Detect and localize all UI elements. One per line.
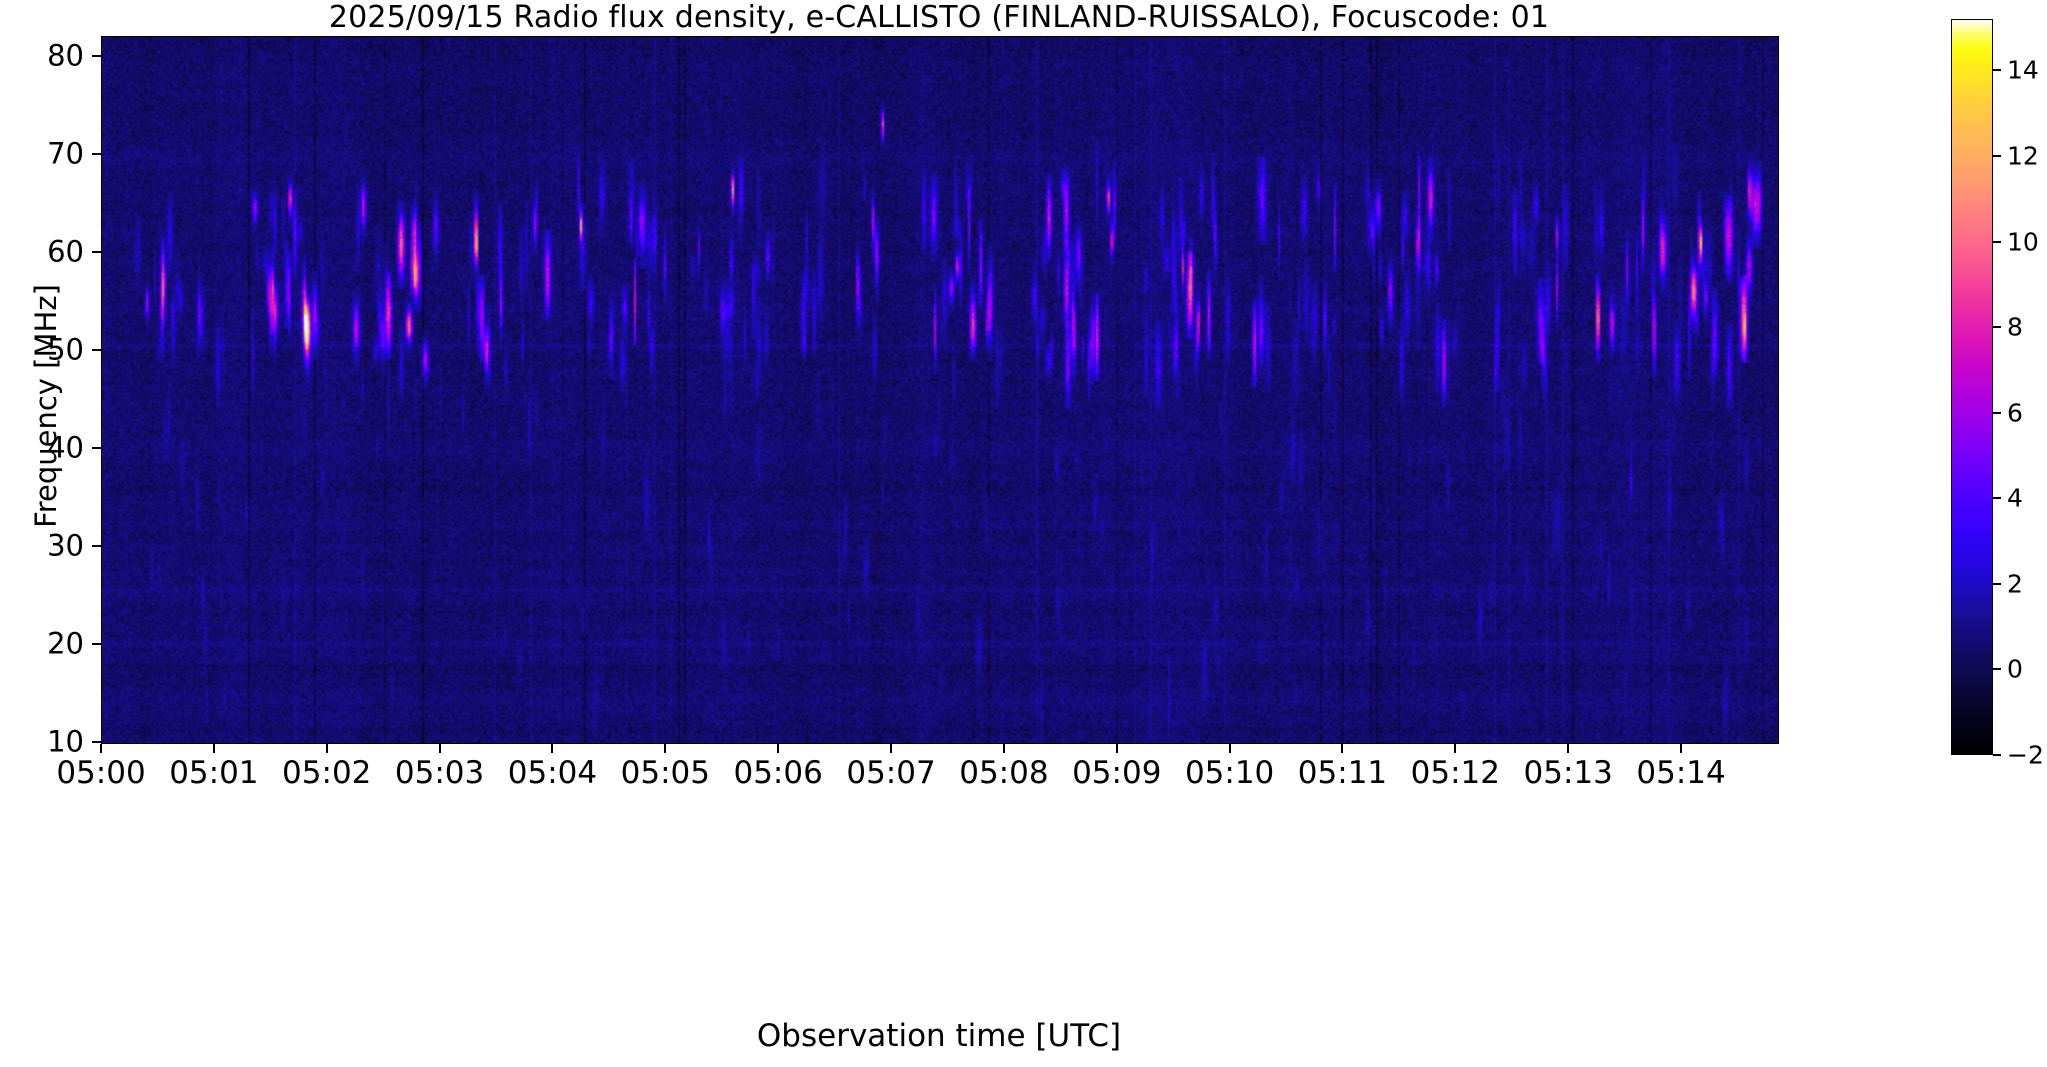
x-tick-label: 05:10 — [1185, 758, 1274, 789]
x-tick-mark — [1003, 744, 1005, 753]
colorbar-tick-mark — [1993, 497, 2001, 499]
x-tick-mark — [1341, 744, 1343, 753]
figure-canvas: 2025/09/15 Radio flux density, e-CALLIST… — [0, 0, 2047, 1067]
colorbar-tick-mark — [1993, 668, 2001, 670]
x-tick-mark — [1454, 744, 1456, 753]
colorbar-tick-label: 6 — [2007, 400, 2023, 425]
colorbar-tick-mark — [1993, 69, 2001, 71]
x-tick-mark — [1116, 744, 1118, 753]
colorbar-tick-label: 12 — [2007, 143, 2039, 168]
colorbar-tick-mark — [1993, 412, 2001, 414]
y-tick-label: 50 — [0, 335, 84, 364]
colorbar-tick-label: 10 — [2007, 229, 2039, 254]
page-title: 2025/09/15 Radio flux density, e-CALLIST… — [101, 2, 1777, 34]
colorbar-tick-mark — [1993, 754, 2001, 756]
x-tick-label: 05:02 — [282, 758, 371, 789]
x-tick-mark — [1567, 744, 1569, 753]
spectrogram-axes[interactable] — [101, 36, 1779, 744]
x-tick-label: 05:07 — [846, 758, 935, 789]
x-axis-label: Observation time [UTC] — [101, 1018, 1777, 1054]
x-tick-label: 05:05 — [621, 758, 710, 789]
y-axis-label: Frequency [MHz] — [29, 96, 63, 716]
y-tick-mark — [92, 153, 101, 155]
colorbar-tick-mark — [1993, 241, 2001, 243]
x-tick-mark — [100, 744, 102, 753]
x-tick-label: 05:08 — [959, 758, 1048, 789]
y-tick-mark — [92, 251, 101, 253]
x-tick-label: 05:14 — [1636, 758, 1725, 789]
colorbar-tick-label: 8 — [2007, 315, 2023, 340]
x-tick-label: 05:00 — [56, 758, 145, 789]
x-tick-mark — [326, 744, 328, 753]
y-tick-label: 70 — [0, 139, 84, 168]
x-tick-mark — [664, 744, 666, 753]
y-tick-mark — [92, 741, 101, 743]
x-tick-mark — [1680, 744, 1682, 753]
x-tick-mark — [551, 744, 553, 753]
y-tick-label: 40 — [0, 433, 84, 462]
x-tick-label: 05:09 — [1072, 758, 1161, 789]
x-tick-label: 05:11 — [1298, 758, 1387, 789]
colorbar-tick-label: −2 — [2007, 743, 2044, 768]
colorbar-tick-mark — [1993, 583, 2001, 585]
y-tick-mark — [92, 349, 101, 351]
colorbar-tick-mark — [1993, 155, 2001, 157]
y-tick-label: 30 — [0, 531, 84, 560]
colorbar-tick-label: 14 — [2007, 58, 2039, 83]
y-tick-mark — [92, 545, 101, 547]
y-tick-mark — [92, 447, 101, 449]
y-tick-mark — [92, 643, 101, 645]
y-tick-label: 60 — [0, 237, 84, 266]
x-tick-mark — [1229, 744, 1231, 753]
colorbar-tick-label: 2 — [2007, 571, 2023, 596]
x-tick-mark — [439, 744, 441, 753]
colorbar[interactable] — [1951, 19, 1993, 755]
x-tick-mark — [213, 744, 215, 753]
colorbar-tick-label: 0 — [2007, 657, 2023, 682]
x-tick-mark — [777, 744, 779, 753]
x-tick-mark — [890, 744, 892, 753]
x-tick-label: 05:12 — [1411, 758, 1500, 789]
y-tick-label: 20 — [0, 629, 84, 658]
colorbar-tick-label: 4 — [2007, 486, 2023, 511]
colorbar-tick-mark — [1993, 326, 2001, 328]
y-tick-label: 10 — [0, 728, 84, 757]
y-tick-mark — [92, 55, 101, 57]
x-tick-label: 05:04 — [508, 758, 597, 789]
x-tick-label: 05:13 — [1524, 758, 1613, 789]
x-tick-label: 05:03 — [395, 758, 484, 789]
x-tick-label: 05:06 — [733, 758, 822, 789]
colorbar-gradient — [1951, 19, 1993, 755]
x-tick-label: 05:01 — [169, 758, 258, 789]
y-tick-label: 80 — [0, 41, 84, 70]
spectrogram-image — [102, 37, 1778, 743]
